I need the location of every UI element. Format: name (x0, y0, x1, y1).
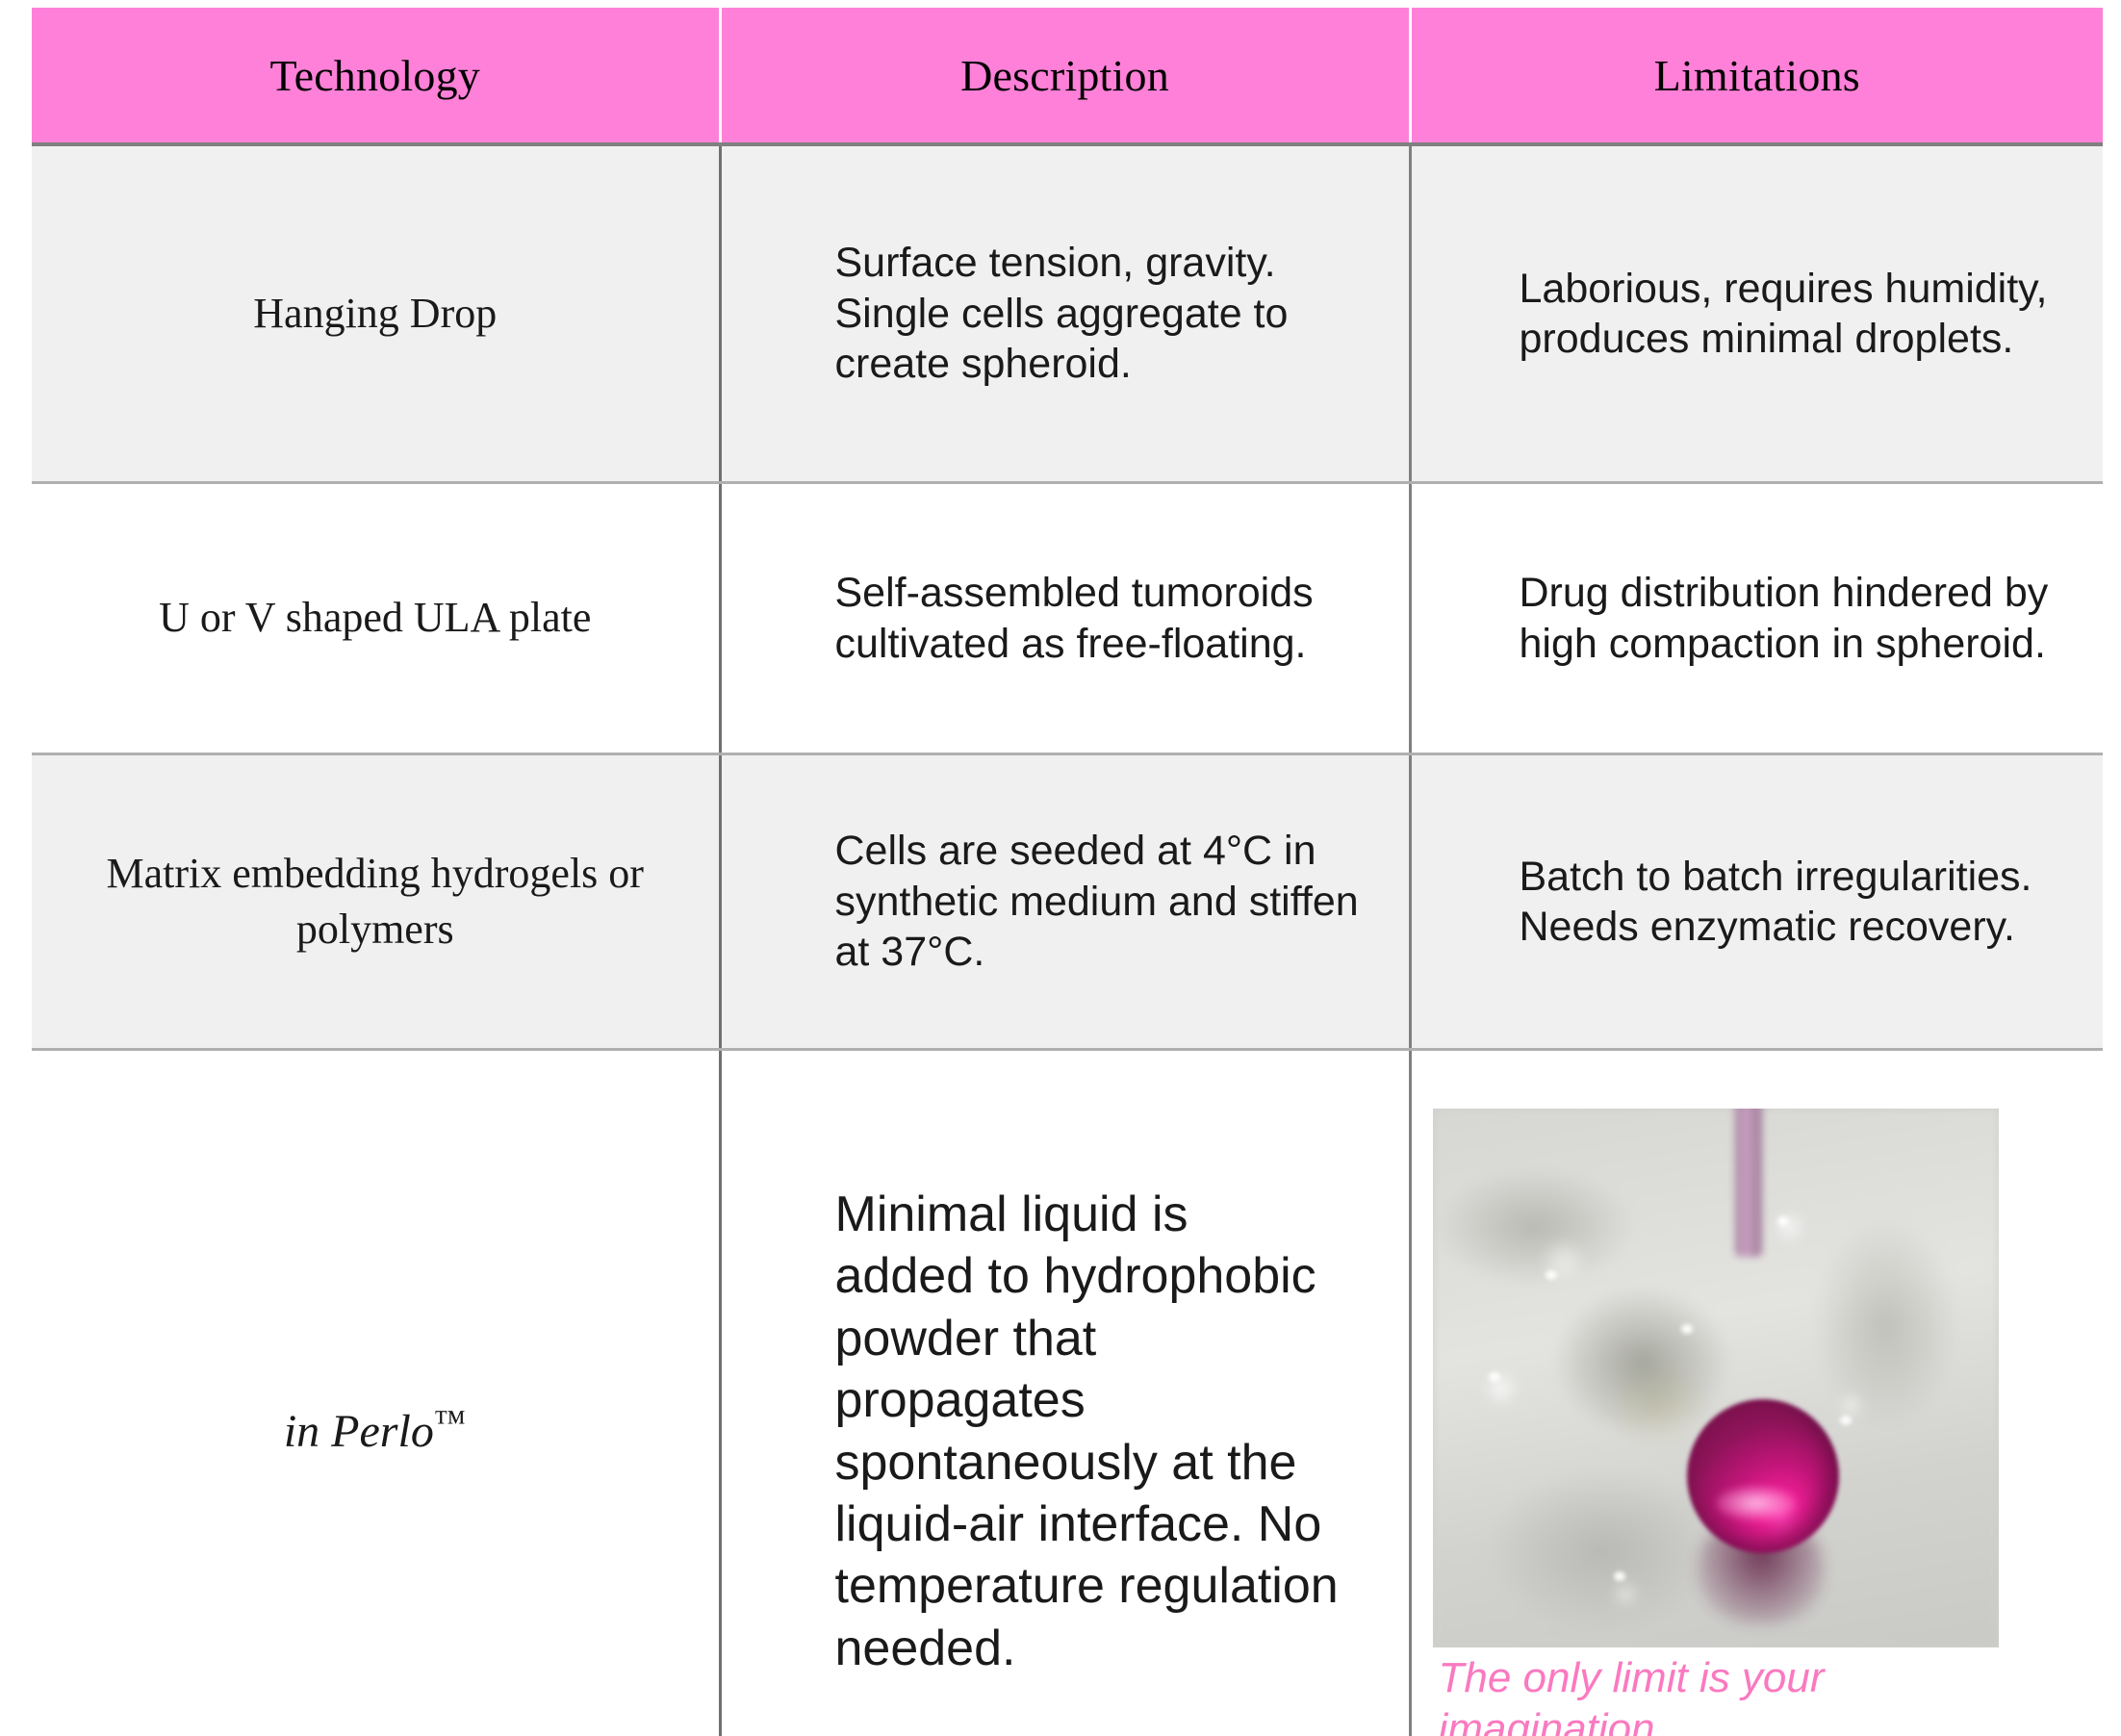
cell-technology: in Perlo™ (32, 1050, 720, 1736)
cell-limitations: Laborious, requires humidity, produces m… (1410, 144, 2103, 483)
table-row: Hanging Drop Surface tension, gravity. S… (32, 144, 2103, 483)
pipette-tip-icon (1735, 1109, 1762, 1257)
table-row: in Perlo™ Minimal liquid is added to hyd… (32, 1050, 2103, 1736)
cell-limitations: Batch to batch irregularities. Needs enz… (1410, 754, 2103, 1050)
column-header-limitations: Limitations (1410, 8, 2103, 144)
powder-speck (1681, 1324, 1693, 1334)
cell-technology: U or V shaped ULA plate (32, 483, 720, 754)
table-header: Technology Description Limitations (32, 8, 2103, 144)
powder-speck (1614, 1571, 1625, 1581)
table-body: Hanging Drop Surface tension, gravity. S… (32, 144, 2103, 1736)
table-row: U or V shaped ULA plate Self-assembled t… (32, 483, 2103, 754)
cell-description: Cells are seeded at 4°C in synthetic med… (720, 754, 1410, 1050)
trademark-symbol: ™ (434, 1405, 467, 1441)
column-header-technology: Technology (32, 8, 720, 144)
photo-caption: The only limit is your imagination. (1433, 1653, 2001, 1736)
powder-speck (1777, 1216, 1789, 1226)
cell-limitations: The only limit is your imagination. (1410, 1050, 2103, 1736)
droplet-photo (1433, 1109, 1999, 1647)
technology-comparison-table: Technology Description Limitations Hangi… (32, 8, 2103, 1736)
cell-description: Self-assembled tumoroids cultivated as f… (720, 483, 1410, 754)
table-page: Technology Description Limitations Hangi… (0, 0, 2121, 1736)
cell-limitations: Drug distribution hindered by high compa… (1410, 483, 2103, 754)
column-header-description: Description (720, 8, 1410, 144)
droplet-highlight (1716, 1486, 1797, 1520)
table-row: Matrix embedding hydrogels or polymers C… (32, 754, 2103, 1050)
magenta-droplet (1687, 1399, 1839, 1553)
header-row: Technology Description Limitations (32, 8, 2103, 144)
cell-technology: Matrix embedding hydrogels or polymers (32, 754, 720, 1050)
cell-description: Minimal liquid is added to hydrophobic p… (720, 1050, 1410, 1736)
product-name-in-perlo: in Perlo™ (284, 1406, 467, 1457)
product-name-text: in Perlo (284, 1406, 434, 1457)
photo-with-caption: The only limit is your imagination. (1433, 1109, 2001, 1736)
cell-technology: Hanging Drop (32, 144, 720, 483)
cell-description: Surface tension, gravity. Single cells a… (720, 144, 1410, 483)
powder-speck (1840, 1416, 1852, 1425)
powder-speck (1546, 1270, 1557, 1280)
